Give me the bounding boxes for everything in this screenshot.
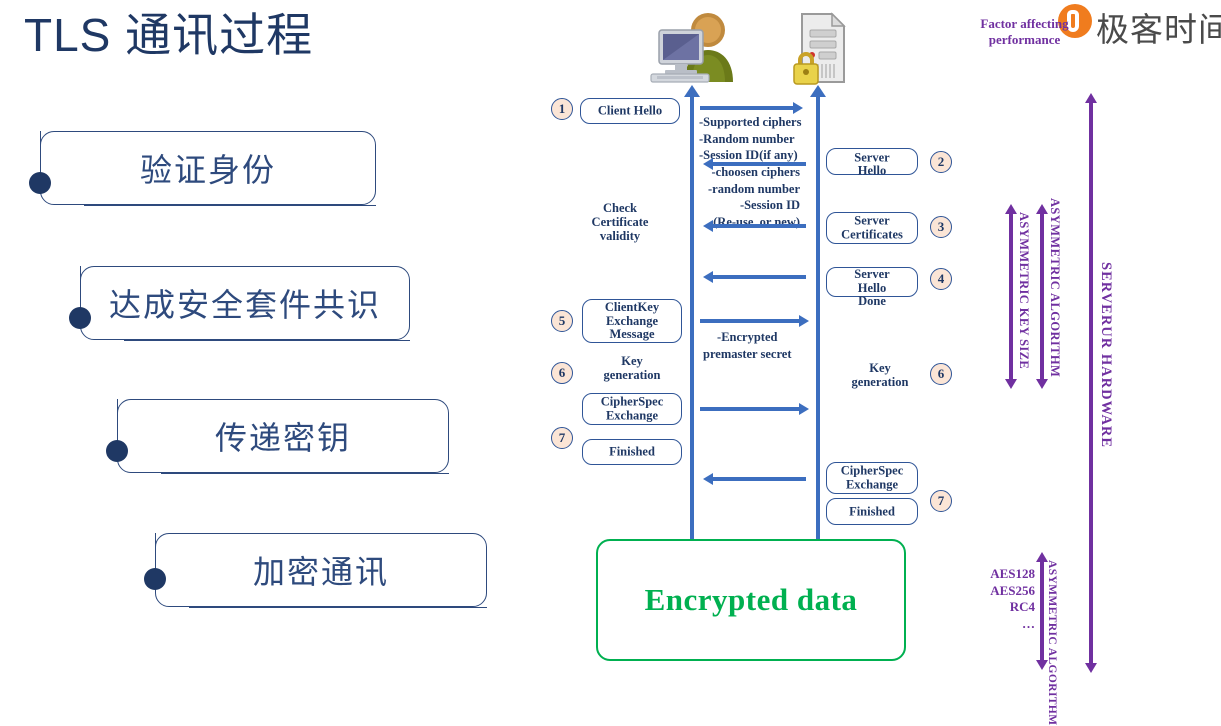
left-step-card-1[interactable]: 验证身份: [40, 131, 376, 205]
left-step-label-4: 加密通讯: [156, 547, 486, 593]
key-generation-server-text: Keygeneration: [832, 361, 928, 389]
arrow-client-to-server-2: [700, 319, 800, 323]
arrow-server-to-client-4: [712, 477, 806, 481]
client-hello-label: Client Hello: [581, 104, 679, 118]
client-computer-user-icon: [645, 8, 741, 88]
check-certificate-validity-text: CheckCertificatevalidity: [572, 201, 668, 243]
arrow-tip-up-icon: [1005, 204, 1017, 214]
cipherspec-exchange-client-box[interactable]: CipherSpecExchange: [582, 393, 682, 425]
left-step-underline-3: [161, 473, 449, 474]
server-lifeline: [816, 96, 820, 541]
left-step-dot-1: [29, 172, 51, 194]
arrow-label-server-hello-contents: -choosen ciphers-random number-Session I…: [708, 164, 800, 230]
cipherspec-exchange-server-label: CipherSpecExchange: [827, 465, 917, 492]
server-hardware-arrow: [1089, 102, 1093, 664]
arrow-client-to-server-3: [700, 407, 800, 411]
server-hello-done-label: ServerHelloDone: [827, 268, 917, 309]
arrow-server-to-client-3: [712, 275, 806, 279]
arrow-tip-down-icon: [1005, 379, 1017, 389]
arrow-tip-down-icon: [1085, 663, 1097, 673]
step-number-6-server: 6: [930, 363, 952, 385]
clientkey-exchange-label: ClientKeyExchangeMessage: [583, 301, 681, 342]
encrypted-data-box[interactable]: Encrypted data: [596, 539, 906, 661]
key-generation-client-text: Keygeneration: [584, 354, 680, 382]
asymmetric-algorithm-arrow-top: [1040, 213, 1044, 380]
server-certificates-label: ServerCertificates: [827, 215, 917, 242]
clientkey-exchange-box[interactable]: ClientKeyExchangeMessage: [582, 299, 682, 343]
left-step-label-1: 验证身份: [41, 145, 375, 191]
left-step-dot-4: [144, 568, 166, 590]
left-step-underline-4: [189, 607, 487, 608]
symmetric-algorithm-label-bottom: ASYMMETRIC ALGORITHM: [1046, 560, 1058, 726]
step-number-2: 2: [930, 151, 952, 173]
server-certificates-box[interactable]: ServerCertificates: [826, 212, 918, 244]
left-step-dot-2: [69, 307, 91, 329]
finished-client-box[interactable]: Finished: [582, 439, 682, 465]
finished-server-label: Finished: [827, 505, 917, 519]
arrow-server-to-client-2: [712, 224, 806, 228]
symmetric-algorithm-arrow-bottom: [1040, 561, 1044, 661]
step-number-6-client: 6: [551, 362, 573, 384]
asymmetric-algorithm-label-top: ASYMMETRIC ALGORITHM: [1047, 198, 1062, 377]
cipher-list-text: AES128AES256RC4…: [963, 566, 1035, 633]
step-number-3: 3: [930, 216, 952, 238]
asymmetric-key-size-label: ASYMMETRIC KEY SIZE: [1016, 212, 1031, 369]
arrow-tip-up-icon: [1085, 93, 1097, 103]
asymmetric-key-size-arrow: [1009, 213, 1013, 380]
server-hello-box[interactable]: ServerHello: [826, 148, 918, 175]
left-step-underline-2: [124, 340, 410, 341]
arrow-tip-up-icon: [1036, 204, 1048, 214]
step-number-1: 1: [551, 98, 573, 120]
left-step-card-2[interactable]: 达成安全套件共识: [80, 266, 410, 340]
step-number-7-server: 7: [930, 490, 952, 512]
server-tower-lock-icon: [788, 8, 852, 88]
factor-affecting-performance-heading: Factor affectingperformance: [952, 16, 1097, 49]
step-number-5: 5: [551, 310, 573, 332]
client-lifeline: [690, 96, 694, 541]
cipherspec-exchange-client-label: CipherSpecExchange: [583, 396, 681, 423]
step-number-7-client: 7: [551, 427, 573, 449]
left-step-stem-1: [40, 131, 41, 176]
client-hello-box[interactable]: Client Hello: [580, 98, 680, 124]
page-title: TLS 通讯过程: [24, 8, 313, 63]
left-step-label-3: 传递密钥: [118, 413, 448, 459]
left-step-stem-2: [80, 266, 81, 311]
left-step-card-4[interactable]: 加密通讯: [155, 533, 487, 607]
left-step-dot-3: [106, 440, 128, 462]
arrow-label-premaster-secret: -Encryptedpremaster secret: [703, 329, 792, 362]
arrow-client-to-server-1: [700, 106, 794, 110]
left-step-card-3[interactable]: 传递密钥: [117, 399, 449, 473]
left-step-label-2: 达成安全套件共识: [81, 280, 409, 326]
encrypted-data-label: Encrypted data: [598, 582, 904, 618]
finished-client-label: Finished: [583, 445, 681, 459]
server-hello-label: ServerHello: [827, 151, 917, 178]
finished-server-box[interactable]: Finished: [826, 498, 918, 525]
arrow-label-client-hello-contents: -Supported ciphers-Random number-Session…: [699, 114, 801, 164]
cipherspec-exchange-server-box[interactable]: CipherSpecExchange: [826, 462, 918, 494]
arrow-tip-down-icon: [1036, 379, 1048, 389]
left-step-underline-1: [84, 205, 376, 206]
step-number-4: 4: [930, 268, 952, 290]
server-hardware-label: SERVERUR HARDWARE: [1097, 262, 1114, 448]
server-hello-done-box[interactable]: ServerHelloDone: [826, 267, 918, 297]
brand-logo-text: 极客时间: [1096, 3, 1221, 51]
left-step-stem-3: [117, 399, 118, 444]
